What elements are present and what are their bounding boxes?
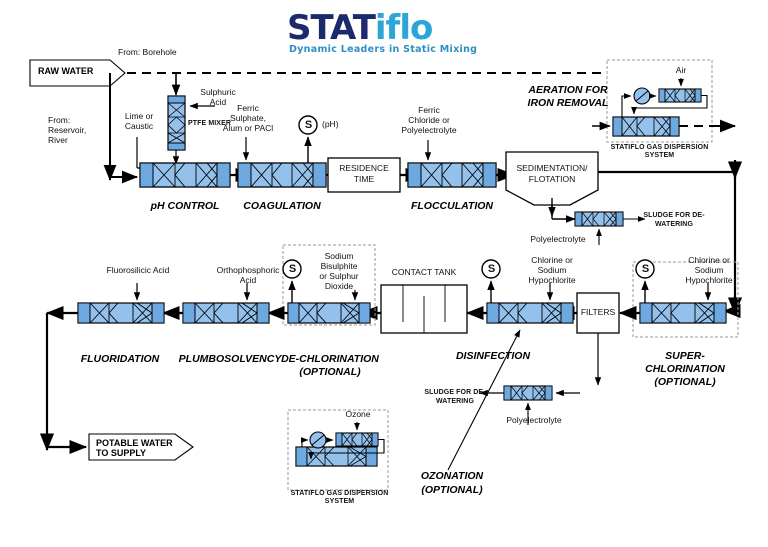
floc-mixer-cap-left <box>408 163 421 187</box>
ozonation-recirc-up <box>302 440 308 447</box>
ptfe-mixer-cap-bottom <box>168 143 185 150</box>
dechlorination-mixer <box>288 303 370 323</box>
stage-label-dechlorination-line2: (OPTIONAL) <box>265 366 395 379</box>
disinfection-mixer-cap-left <box>487 303 499 323</box>
ozonation-main-cap-left <box>296 447 307 466</box>
sludge-bottom-label-line1: SLUDGE FOR DE- <box>424 389 486 397</box>
stage-label-ozonation-line2: (OPTIONAL) <box>392 484 512 497</box>
stage-label-coagulation: COAGULATION <box>222 200 342 213</box>
aeration-caption-line2: SYSTEM <box>592 152 727 160</box>
sedimentation-label-line1: SEDIMENTATION/ <box>506 163 598 173</box>
superchlorination-mixer <box>640 303 726 323</box>
stage-label-superchlorination-line1: SUPER- <box>625 350 745 363</box>
aeration-gas-mixer-cap-right <box>695 89 701 102</box>
borehole-source-label: From: Borehole <box>118 48 208 58</box>
sludge-mixer-top-cap-right <box>616 212 623 226</box>
flocculant-label-line3: Polyelectrolyte <box>382 126 476 136</box>
ozonation-gas-cap-left <box>336 433 342 446</box>
disinfection-mixer <box>487 303 573 323</box>
fluor-mixer-cap-left <box>78 303 90 323</box>
ozonation-main-cap-right <box>366 447 377 466</box>
aeration-main-mixer-cap-right <box>670 117 679 136</box>
sludge-top-label-line2: WATERING <box>643 221 705 229</box>
stage-label-dechlorination-line1: DE-CHLORINATION <box>265 353 395 366</box>
sensor-symbol-superchlorination: S <box>638 263 653 276</box>
residence-time-label-line2: TIME <box>328 174 400 184</box>
sensor-symbol-dechlorination: S <box>285 263 300 276</box>
coag-mixer-cap-right <box>313 163 326 187</box>
sludge-mixer-bottom-cap-left <box>504 386 511 400</box>
stage-label-disinfection: DISINFECTION <box>428 350 558 363</box>
air-label: Air <box>664 66 698 76</box>
stage-label-ozonation-line1: OZONATION <box>392 470 512 483</box>
contact-tank-label: CONTACT TANK <box>381 267 467 277</box>
ph-mixer-cap-left <box>140 163 153 187</box>
reservoir-source-line3: River <box>48 136 108 146</box>
sensor-symbol-disinfection: S <box>484 263 499 276</box>
aeration-main-mixer-cap-left <box>613 117 622 136</box>
lime-label-line2: Caustic <box>108 122 170 132</box>
ozonation-main-mixer <box>296 447 377 466</box>
ozonation-gas-cap-right <box>372 433 378 446</box>
floc-mixer-cap-right <box>483 163 496 187</box>
coagulant-label-line3: Alum or PACl <box>206 124 290 134</box>
sensor-symbol-coagulation: S <box>301 119 316 132</box>
ozonation-caption-line1: STATIFLO GAS DISPERSION <box>272 490 407 498</box>
ph-sensor-label: (pH) <box>322 120 352 130</box>
aeration-gas-mixer-cap-left <box>659 89 665 102</box>
plumbo-mixer-cap-right <box>257 303 269 323</box>
orthophosphoric-label-line2: Acid <box>198 276 298 286</box>
stage-label-superchlorination-line3: (OPTIONAL) <box>625 376 745 389</box>
stage-label-superchlorination-line2: CHLORINATION <box>625 363 745 376</box>
coag-mixer-cap-left <box>238 163 251 187</box>
polyelectrolyte-top-label: Polyelectrolyte <box>518 235 598 245</box>
superchlor-mixer-cap-left <box>640 303 652 323</box>
raw-water-label: RAW WATER <box>38 66 93 77</box>
stage-label-aeration-line1: AERATION FOR <box>508 84 628 97</box>
sedimentation-label-line2: FLOTATION <box>506 174 598 184</box>
stage-label-flocculation: FLOCCULATION <box>392 200 512 213</box>
residence-time-label-line1: RESIDENCE <box>328 163 400 173</box>
sludge-mixer-bottom-cap-right <box>545 386 552 400</box>
filters-label: FILTERS <box>577 307 619 317</box>
dechlor-chem-line4: Dioxide <box>308 282 370 292</box>
process-flow-diagram: STATiflo Dynamic Leaders in Static Mixin… <box>0 0 768 547</box>
aeration-caption-line1: STATIFLO GAS DISPERSION <box>592 144 727 152</box>
chlorine-label-line3: Hypochlorite <box>515 276 589 286</box>
sludge-bottom-label-line2: WATERING <box>424 398 486 406</box>
ph-mixer-cap-right <box>217 163 230 187</box>
potable-water-label-line2: TO SUPPLY <box>96 448 146 459</box>
ozone-label: Ozone <box>340 410 376 420</box>
superchlor-mixer-cap-right <box>714 303 726 323</box>
ozonation-caption-line2: SYSTEM <box>272 498 407 506</box>
polyelectrolyte-bottom-label: Polyelectrolyte <box>494 416 574 426</box>
disinfection-mixer-cap-right <box>561 303 573 323</box>
superchlor-label-line3: Hypochlorite <box>666 276 752 286</box>
fluorosilicic-label: Fluorosilicic Acid <box>92 266 184 276</box>
stage-label-aeration-line2: IRON REMOVAL <box>508 97 628 110</box>
sludge-top-label-line1: SLUDGE FOR DE- <box>643 212 705 220</box>
sludge-mixer-top-cap-left <box>575 212 582 226</box>
dechlor-mixer-cap-right <box>359 303 370 323</box>
fluor-mixer-cap-right <box>152 303 164 323</box>
plumbo-mixer-cap-left <box>183 303 195 323</box>
fluoridation-mixer <box>78 303 164 323</box>
plumbosolvency-mixer <box>183 303 269 323</box>
dechlor-mixer-cap-left <box>288 303 299 323</box>
